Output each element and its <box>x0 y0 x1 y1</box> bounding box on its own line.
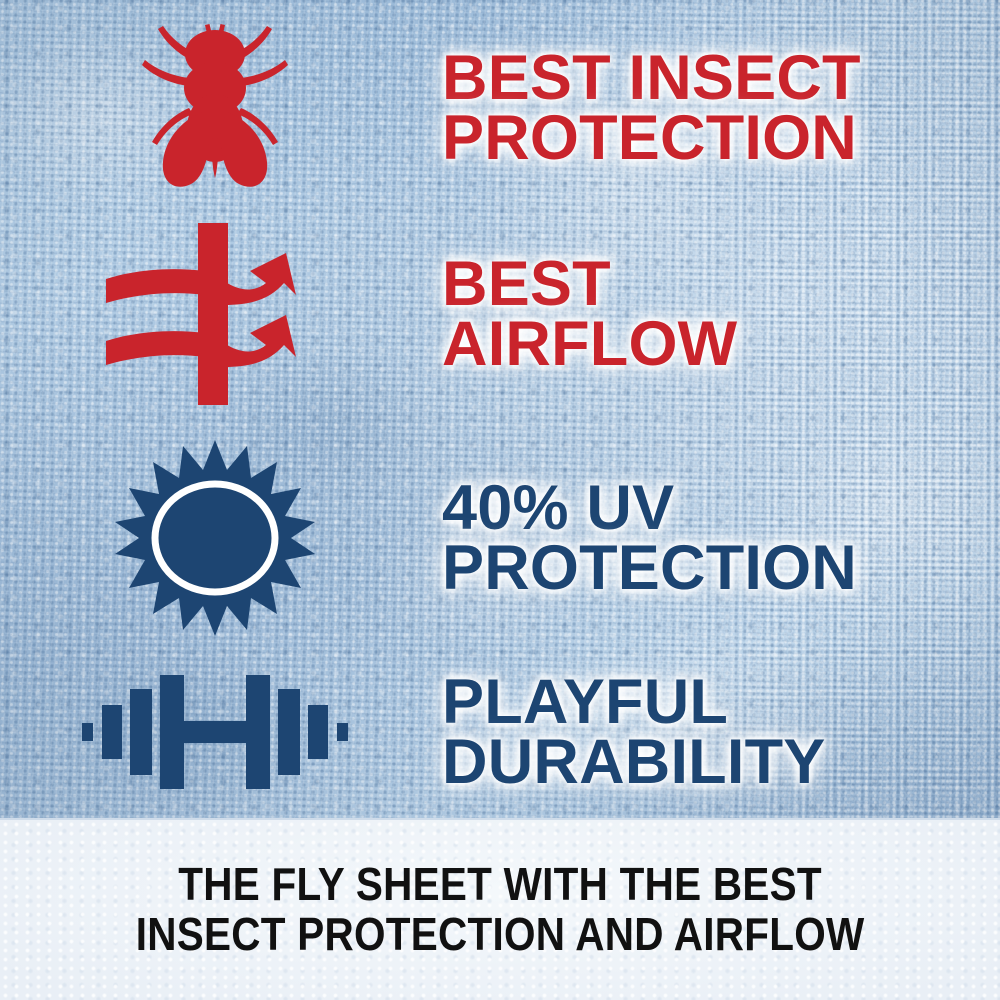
feature-row-airflow: BEST AIRFLOW <box>0 214 1000 414</box>
fly-icon <box>135 16 295 201</box>
feature-row-insect-protection: BEST INSECT PROTECTION <box>0 8 1000 208</box>
feature-icon-cell <box>0 219 430 409</box>
feature-label-insect-protection: BEST INSECT PROTECTION <box>442 48 1000 169</box>
caption-headline: THE FLY SHEET WITH THE BEST INSECT PROTE… <box>136 860 865 959</box>
feature-label-durability: PLAYFUL DURABILITY <box>442 672 1000 793</box>
feature-text-cell: BEST INSECT PROTECTION <box>430 48 1000 169</box>
feature-icon-cell <box>0 16 430 201</box>
feature-row-durability: PLAYFUL DURABILITY <box>0 648 1000 816</box>
feature-label-uv-protection: 40% UV PROTECTION <box>442 478 1000 599</box>
feature-list: BEST INSECT PROTECTION <box>0 0 1000 818</box>
feature-text-cell: PLAYFUL DURABILITY <box>430 672 1000 793</box>
airflow-icon <box>100 219 330 409</box>
infographic-canvas: BEST INSECT PROTECTION <box>0 0 1000 1000</box>
feature-label-airflow: BEST AIRFLOW <box>442 254 1000 375</box>
feature-text-cell: 40% UV PROTECTION <box>430 478 1000 599</box>
feature-text-cell: BEST AIRFLOW <box>430 254 1000 375</box>
feature-icon-cell <box>0 438 430 638</box>
feature-icon-cell <box>0 667 430 797</box>
caption-bar: THE FLY SHEET WITH THE BEST INSECT PROTE… <box>0 818 1000 1000</box>
feature-row-uv-protection: 40% UV PROTECTION <box>0 432 1000 644</box>
sun-icon <box>115 438 315 638</box>
dumbbell-icon <box>80 667 350 797</box>
